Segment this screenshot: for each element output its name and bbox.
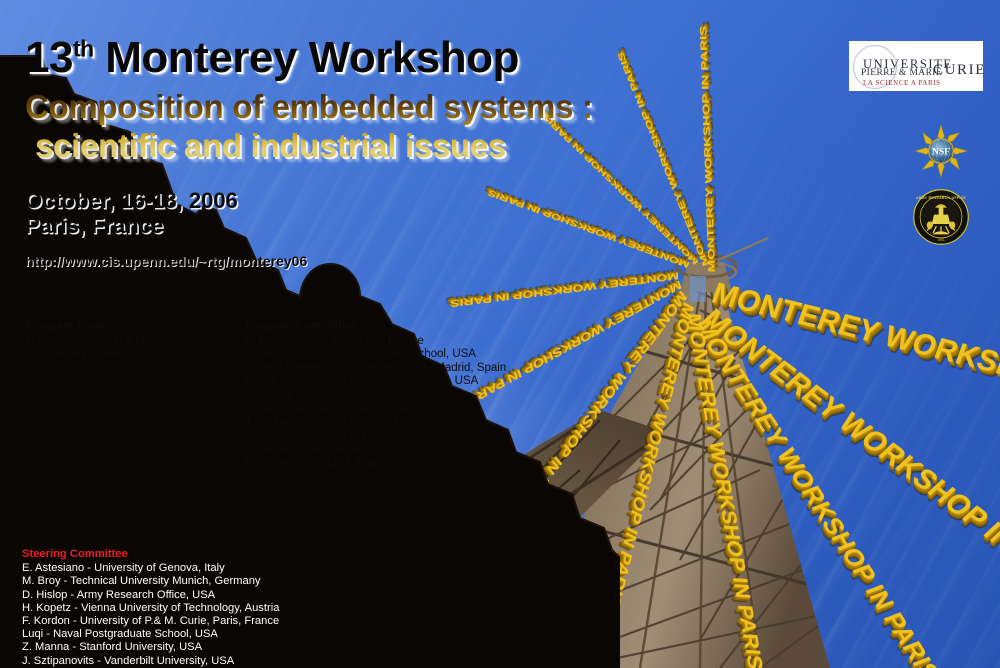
event-date: October, 16-18, 2006 bbox=[25, 188, 745, 214]
list-item: F. Kordon - Univ. P & M. Curie, France bbox=[26, 335, 225, 349]
title-ordinal-number: 13 bbox=[25, 33, 73, 82]
program-chairs-list: F. Kordon - Univ. P & M. Curie, FranceO.… bbox=[26, 335, 225, 362]
program-chairs-heading: Program Chairs bbox=[26, 320, 225, 334]
steering-committee-heading: Steering Committee bbox=[22, 548, 279, 561]
upmc-line-2: PIERRE & MARIE bbox=[861, 68, 942, 78]
list-item: F. Terrier - CEA-LIST, France bbox=[245, 457, 506, 471]
poster-subtitle: Composition of embedded systems : scient… bbox=[25, 88, 745, 166]
aro-year: 1951 bbox=[937, 238, 945, 242]
conference-poster: MONTEREY WORKSHOP IN PARISMONTEREY WORKS… bbox=[0, 0, 1000, 668]
list-item: O. Sokolsky - Univ. Pennsylvania, USA bbox=[26, 348, 225, 362]
list-item: M. Broy - Technical University Munich, G… bbox=[22, 575, 279, 588]
logo-nsf[interactable]: NSF bbox=[913, 123, 969, 179]
list-item: I. Lee - Univ. Pennsylvania, USA bbox=[245, 403, 506, 417]
event-url[interactable]: http://www.cis.upenn.edu/~rtg/monterey06 bbox=[25, 253, 745, 269]
list-item: D. Hislop - Army Research Office, USA bbox=[22, 589, 279, 602]
steering-committee-list: E. Astesiano - University of Genova, Ita… bbox=[22, 562, 279, 668]
event-date-location: October, 16-18, 2006 Paris, France bbox=[25, 188, 745, 239]
aro-label: ARMY RESEARCH OFFICE bbox=[916, 196, 966, 200]
title-rest: Monterey Workshop bbox=[94, 33, 519, 82]
program-committee-list: B. Bérard - Univ. Dauphine, FranceV. Ber… bbox=[245, 335, 506, 471]
list-item: T. Maibaum - King's College, UK bbox=[245, 416, 506, 430]
logo-army-research-office[interactable]: ARMY RESEARCH OFFICE 1951 bbox=[912, 188, 970, 246]
list-item: G. Karsai - Univ. Vanderbilt, USA bbox=[245, 389, 506, 403]
page-title: 13th Monterey Workshop bbox=[25, 36, 745, 80]
steering-committee-block: Steering Committee E. Astesiano - Univer… bbox=[22, 548, 279, 668]
list-item: J. de la Puente - Univ. Politécnica de M… bbox=[245, 362, 506, 376]
list-item: Luqi - Naval Postgraduate School, USA bbox=[22, 628, 279, 641]
event-location: Paris, France bbox=[25, 213, 745, 239]
logo-upmc[interactable]: UNIVERSITE PIERRE & MARIE CURIE LA SCIEN… bbox=[849, 41, 983, 91]
list-item: C. Gill - Washington Univ. in Saint-Loui… bbox=[245, 375, 506, 389]
list-item: J. Sifakis - Verimag, France bbox=[245, 430, 506, 444]
poster-header: 13th Monterey Workshop Composition of em… bbox=[25, 36, 745, 269]
program-committee-heading: Program Committee bbox=[245, 320, 506, 334]
list-item: H. Kopetz - Vienna University of Technol… bbox=[22, 602, 279, 615]
upmc-tagline: LA SCIENCE A PARIS bbox=[863, 79, 941, 87]
program-committee-block: Program Committee B. Bérard - Univ. Daup… bbox=[245, 320, 506, 471]
list-item: Z. Manna - Stanford University, USA bbox=[22, 641, 279, 654]
subtitle-line-1: Composition of embedded systems : bbox=[25, 88, 593, 125]
list-item: F. Kordon - University of P.& M. Curie, … bbox=[22, 615, 279, 628]
list-item: H. Sipma - Univ. Stanford, USA bbox=[245, 443, 506, 457]
nsf-label: NSF bbox=[932, 147, 950, 157]
upmc-line-3: CURIE bbox=[933, 62, 983, 79]
list-item: V. Berzins - Naval Postgraduate School, … bbox=[245, 348, 506, 362]
program-chairs-block: Program Chairs F. Kordon - Univ. P & M. … bbox=[26, 320, 225, 362]
list-item: B. Bérard - Univ. Dauphine, France bbox=[245, 335, 506, 349]
list-item: J. Sztipanovits - Vanderbilt University,… bbox=[22, 655, 279, 668]
title-ordinal-suffix: th bbox=[73, 35, 94, 61]
list-item: E. Astesiano - University of Genova, Ita… bbox=[22, 562, 279, 575]
subtitle-line-2: scientific and industrial issues bbox=[25, 127, 745, 166]
